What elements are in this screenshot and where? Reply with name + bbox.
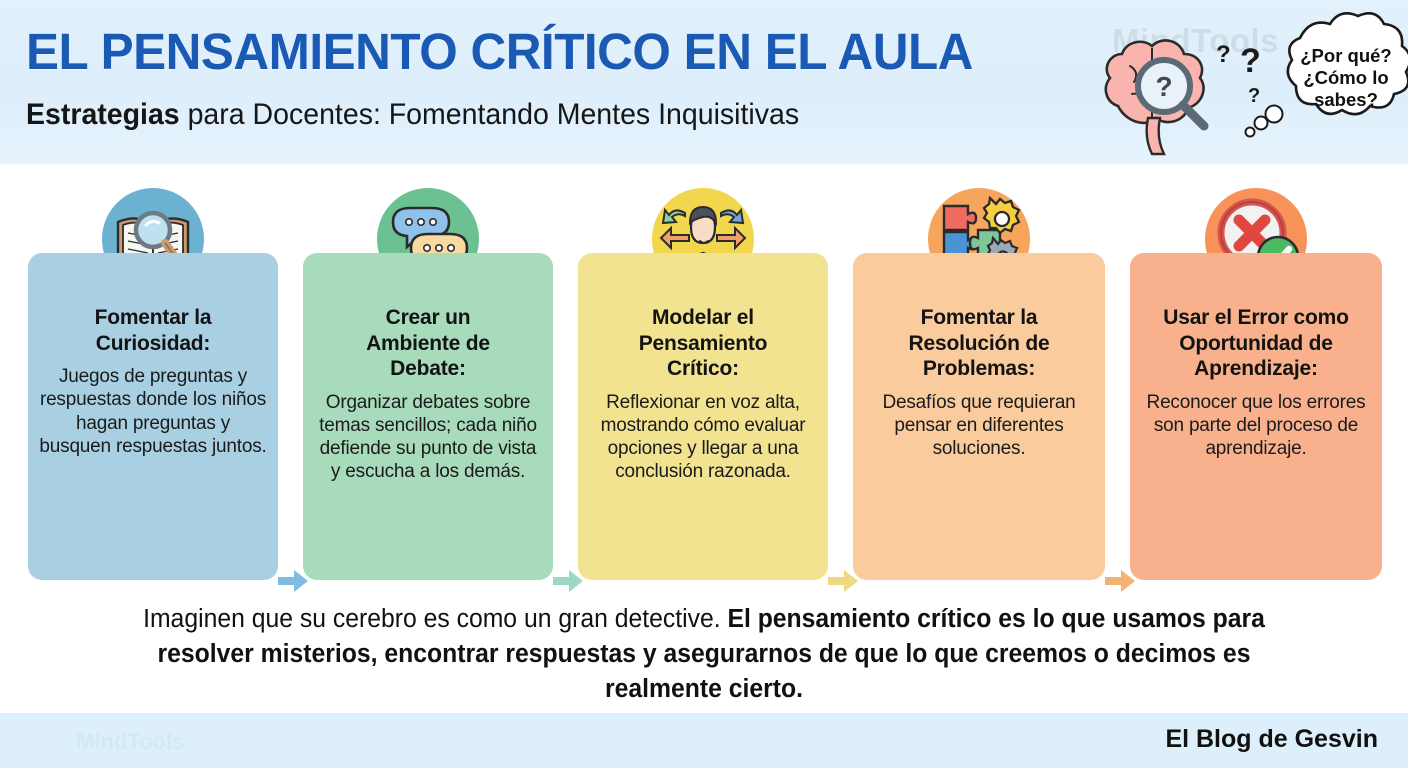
gear-yellow-icon	[984, 198, 1019, 233]
summary-paragraph: Imaginen que su cerebro es como un gran …	[122, 602, 1286, 708]
card-5-body: Reconocer que los errores son parte del …	[1141, 391, 1371, 461]
strategy-card-5[interactable]: Usar el Error comoOportunidad deAprendiz…	[1130, 164, 1382, 584]
card-2-body: Organizar debates sobre temas sencillos;…	[314, 391, 542, 484]
strategy-card-1[interactable]: Fomentar laCuriosidad: Juegos de pregunt…	[28, 164, 278, 584]
header-banner: MindTools EL PENSAMIENTO CRÍTICO EN EL A…	[0, 0, 1408, 164]
question-mark-tiny-icon: ?	[1248, 85, 1260, 107]
infographic-page: MindTools EL PENSAMIENTO CRÍTICO EN EL A…	[0, 0, 1408, 768]
footer-watermark: MindTools	[76, 729, 184, 755]
card-2-box: Crear unAmbiente deDebate: Organizar deb…	[303, 253, 553, 580]
footer-brand-text: El Blog de Gesvin	[1165, 725, 1378, 754]
strategy-card-2[interactable]: Crear unAmbiente deDebate: Organizar deb…	[303, 164, 553, 584]
subtitle-bold-part: Estrategias	[26, 98, 180, 131]
card-4-title: Fomentar laResolución deProblemas:	[909, 305, 1050, 382]
card-2-title: Crear unAmbiente deDebate:	[366, 305, 490, 382]
subtitle-rest-part: para Docentes: Fomentando Mentes Inquisi…	[180, 98, 799, 131]
card-3-body: Reflexionar en voz alta, mostrando cómo …	[589, 391, 817, 484]
svg-text:?: ?	[1155, 71, 1172, 102]
card-4-box: Fomentar laResolución deProblemas: Desaf…	[853, 253, 1105, 580]
strategy-card-4[interactable]: Fomentar laResolución deProblemas: Desaf…	[853, 164, 1105, 584]
page-subtitle: Estrategias para Docentes: Fomentando Me…	[26, 98, 799, 132]
bubble-line-3: sabes?	[1314, 89, 1378, 110]
card-3-title: Modelar elPensamientoCrítico:	[639, 305, 768, 382]
page-title: EL PENSAMIENTO CRÍTICO EN EL AULA	[26, 22, 973, 81]
summary-normal-text: Imaginen que su cerebro es como un gran …	[143, 605, 727, 633]
question-mark-large-icon: ?	[1240, 42, 1261, 80]
card-1-box: Fomentar laCuriosidad: Juegos de pregunt…	[28, 253, 278, 580]
footer-bar: MindTools El Blog de Gesvin	[0, 713, 1408, 768]
card-1-body: Juegos de preguntas y respuestas donde l…	[39, 365, 267, 458]
brain-thought-illustration: ? ? ? ? ¿Por qué? ¿Cómo lo sabes?	[1088, 10, 1408, 162]
card-1-title: Fomentar laCuriosidad:	[95, 305, 212, 356]
card-5-box: Usar el Error comoOportunidad deAprendiz…	[1130, 253, 1382, 580]
card-3-box: Modelar elPensamientoCrítico: Reflexiona…	[578, 253, 828, 580]
bubble-line-2: ¿Cómo lo	[1303, 67, 1388, 88]
card-4-body: Desafíos que requieran pensar en diferen…	[864, 391, 1094, 461]
strategy-card-3[interactable]: Modelar elPensamientoCrítico: Reflexiona…	[578, 164, 828, 584]
card-5-title: Usar el Error comoOportunidad deAprendiz…	[1163, 305, 1348, 382]
question-mark-small-icon: ?	[1216, 41, 1231, 68]
bubble-line-1: ¿Por qué?	[1300, 45, 1391, 66]
strategy-cards-row: Fomentar laCuriosidad: Juegos de pregunt…	[0, 164, 1408, 604]
